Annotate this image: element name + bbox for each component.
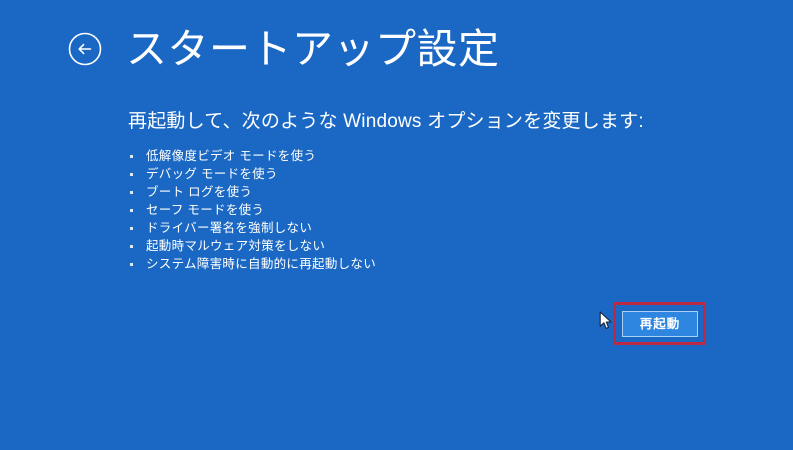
- bullet-icon: [130, 245, 133, 248]
- list-item: 低解像度ビデオ モードを使う: [128, 147, 376, 165]
- option-label: システム障害時に自動的に再起動しない: [146, 255, 376, 273]
- bullet-icon: [130, 227, 133, 230]
- bullet-icon: [130, 191, 133, 194]
- bullet-icon: [130, 263, 133, 266]
- bullet-icon: [130, 155, 133, 158]
- list-item: システム障害時に自動的に再起動しない: [128, 255, 376, 273]
- mouse-arrow-cursor: [599, 311, 613, 331]
- back-arrow-circle-icon: [67, 31, 103, 67]
- list-item: ブート ログを使う: [128, 183, 376, 201]
- option-label: ブート ログを使う: [146, 183, 252, 201]
- list-item: ドライバー署名を強制しない: [128, 219, 376, 237]
- option-label: デバッグ モードを使う: [146, 165, 278, 183]
- restart-button-label: 再起動: [640, 318, 681, 331]
- list-item: デバッグ モードを使う: [128, 165, 376, 183]
- bullet-icon: [130, 173, 133, 176]
- option-label: セーフ モードを使う: [146, 201, 264, 219]
- list-item: 起動時マルウェア対策をしない: [128, 237, 376, 255]
- option-label: 起動時マルウェア対策をしない: [146, 237, 325, 255]
- option-label: 低解像度ビデオ モードを使う: [146, 147, 316, 165]
- header: スタートアップ設定: [66, 26, 500, 72]
- back-button[interactable]: [66, 30, 104, 68]
- subtitle-text: 再起動して、次のような Windows オプションを変更します:: [128, 109, 644, 135]
- startup-options-list: 低解像度ビデオ モードを使う デバッグ モードを使う ブート ログを使う セーフ…: [128, 147, 376, 273]
- list-item: セーフ モードを使う: [128, 201, 376, 219]
- startup-settings-screen: スタートアップ設定 再起動して、次のような Windows オプションを変更しま…: [0, 0, 793, 450]
- restart-button[interactable]: 再起動: [622, 311, 698, 337]
- option-label: ドライバー署名を強制しない: [146, 219, 312, 237]
- bullet-icon: [130, 209, 133, 212]
- page-title: スタートアップ設定: [126, 26, 500, 72]
